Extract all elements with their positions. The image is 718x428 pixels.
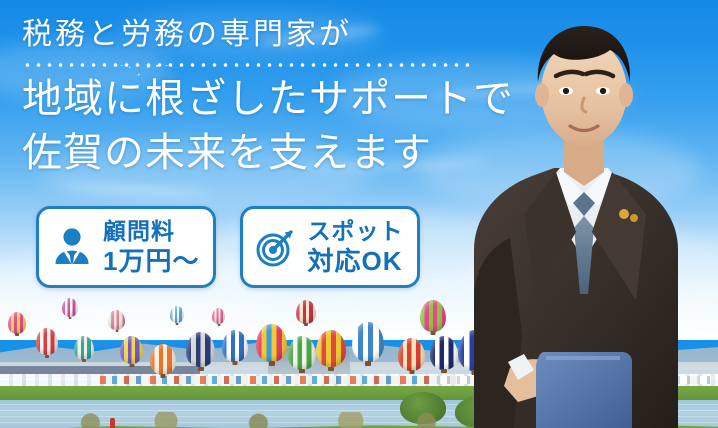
ear-left <box>535 83 549 107</box>
balloon-basket <box>176 323 179 325</box>
lapel-pin <box>630 214 638 222</box>
badge-spot-support[interactable]: スポット 対応OK <box>240 206 420 288</box>
balloon-envelope <box>288 336 316 370</box>
balloon-small-high2 <box>212 308 225 324</box>
cloud <box>0 40 170 100</box>
balloon-yellow-stripe <box>316 330 346 367</box>
balloon-pink-small <box>8 312 26 334</box>
balloon-basket <box>129 364 134 367</box>
businessman-icon <box>49 224 95 270</box>
balloon-envelope <box>62 298 78 317</box>
balloon-envelope <box>186 332 215 367</box>
balloon-envelope <box>398 338 425 371</box>
balloon-basket <box>115 330 118 332</box>
balloon-envelope <box>108 310 125 330</box>
badge-advisory-fee[interactable]: 顧問料 1万円〜 <box>36 206 216 288</box>
badge-spot-support-line-1: スポット <box>307 218 403 244</box>
target-arrow-icon <box>253 224 299 270</box>
balloon-basket <box>198 367 204 371</box>
balloon-basket <box>409 370 414 374</box>
balloon-envelope <box>296 300 316 324</box>
balloon-magenta <box>62 298 78 317</box>
balloon-red-left <box>36 328 58 355</box>
person-on-bank <box>110 418 115 428</box>
balloon-basket <box>304 323 308 326</box>
pupil-right <box>600 88 606 94</box>
balloon-checker <box>430 336 458 370</box>
balloon-envelope <box>150 344 176 375</box>
balloon-envelope <box>222 330 248 362</box>
balloon-white-tall <box>352 322 384 362</box>
balloon-lime-top <box>420 300 446 332</box>
balloon-blue-white <box>222 330 248 362</box>
balloon-teal <box>74 336 94 360</box>
ear-right <box>619 83 633 107</box>
balloon-basket <box>45 355 49 358</box>
balloon-basket <box>217 324 220 326</box>
balloon-envelope <box>120 336 143 364</box>
balloon-dark-navy <box>186 332 215 367</box>
balloon-purple-mid <box>120 336 143 364</box>
balloon-envelope <box>8 312 26 334</box>
badge-spot-support-line-2: 対応OK <box>307 246 403 277</box>
balloon-envelope <box>212 308 225 324</box>
balloon-basket <box>233 361 238 365</box>
balloon-envelope <box>170 306 184 323</box>
balloon-envelope <box>430 336 458 370</box>
balloon-small-high <box>170 306 184 323</box>
folder-highlight <box>546 356 620 360</box>
balloon-rainbow <box>256 324 287 362</box>
balloon-top-crimson <box>296 300 316 324</box>
balloon-basket <box>441 369 447 373</box>
balloon-basket <box>161 374 166 378</box>
balloon-basket <box>365 361 371 366</box>
balloon-red-right <box>398 338 425 371</box>
festival-tents-colored <box>100 376 460 384</box>
businessman-portrait <box>464 0 718 428</box>
pupil-left <box>563 88 569 94</box>
document-folder <box>536 352 632 428</box>
badge-advisory-fee-line-2: 1万円〜 <box>103 246 199 277</box>
badge-spot-support-text: スポット 対応OK <box>307 217 403 277</box>
lapel-pin <box>619 209 629 219</box>
balloon-orange <box>150 344 176 375</box>
balloon-basket <box>69 317 72 319</box>
balloon-basket <box>299 369 305 373</box>
riverside-brush <box>40 412 460 428</box>
balloon-basket <box>328 367 334 371</box>
balloon-basket <box>269 361 275 366</box>
cloud <box>40 140 370 210</box>
balloon-basket <box>15 333 19 336</box>
balloon-envelope <box>420 300 446 332</box>
balloon-envelope <box>74 336 94 360</box>
balloon-envelope <box>316 330 346 367</box>
feature-badges: 顧問料 1万円〜 スポット 対応OK <box>36 206 420 288</box>
badge-advisory-fee-text: 顧問料 1万円〜 <box>103 217 199 277</box>
balloon-green-check <box>288 336 316 370</box>
balloon-cream-pink <box>108 310 125 330</box>
badge-advisory-fee-line-1: 顧問料 <box>103 218 175 244</box>
balloon-basket <box>82 359 86 362</box>
balloon-basket <box>431 331 436 335</box>
balloon-envelope <box>256 324 287 362</box>
hero-banner: 税務と労務の専門家が 地域に根ざしたサポートで 佐賀の未来を支えます 顧問料 1… <box>0 0 718 428</box>
balloon-envelope <box>36 328 58 355</box>
balloon-envelope <box>352 322 384 362</box>
